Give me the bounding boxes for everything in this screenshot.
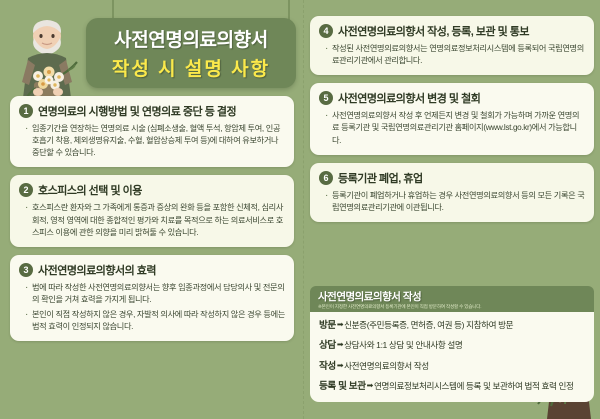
section-2-header: 2 호스피스의 선택 및 이용 (19, 182, 285, 198)
section-4-title: 사전연명의료의향서 작성, 등록, 보관 및 통보 (338, 23, 529, 39)
sign-cord-left (112, 0, 114, 20)
list-item: 본인이 직접 작성하지 않은 경우, 자발적 의사에 따라 작성하지 않은 경우… (25, 309, 285, 333)
process-step-write: 작성 ➡ 사전연명의료의향서 작성 (319, 360, 585, 373)
section-3-header: 3 사전연명의료의향서의 효력 (19, 262, 285, 278)
list-item: 법에 따라 작성한 사전연명의료의향서는 향후 임종과정에서 담당의사 및 전문… (25, 282, 285, 306)
section-5-title: 사전연명의료의향서 변경 및 철회 (338, 90, 480, 106)
arrow-right-icon: ➡ (336, 339, 344, 350)
arrow-right-icon: ➡ (366, 380, 374, 391)
process-step-write-text: 사전연명의료의향서 작성 (344, 360, 585, 372)
process-step-register-text: 연명의료정보처리시스템에 등록 및 보관하여 법적 효력 인정 (374, 380, 585, 392)
section-2-title: 호스피스의 선택 및 이용 (38, 182, 142, 198)
section-1-header: 1 연명의료의 시행방법 및 연명의료 중단 등 결정 (19, 103, 285, 119)
process-panel-note: ※본인이 지정한 사전연명의료의향서 등록기관에 본인이 직접 방문하여 작성할… (318, 304, 586, 310)
arrow-right-icon: ➡ (336, 360, 344, 371)
section-6-header: 6 등록기관 폐업, 휴업 (319, 170, 585, 186)
process-panel-body: 방문 ➡ 신분증(주민등록증, 면허증, 여권 등) 지참하여 방문 상담 ➡ … (310, 312, 594, 402)
process-panel-header: 사전연명의료의향서 작성 ※본인이 지정한 사전연명의료의향서 등록기관에 본인… (310, 286, 594, 312)
process-step-visit-label: 방문 (319, 319, 336, 332)
column-divider (303, 0, 304, 419)
section-card-3: 3 사전연명의료의향서의 효력 법에 따라 작성한 사전연명의료의향서는 향후 … (10, 255, 294, 342)
elderly-man-with-flowers-illustration (8, 16, 86, 108)
section-card-1: 1 연명의료의 시행방법 및 연명의료 중단 등 결정 임종기간을 연장하는 연… (10, 96, 294, 167)
arrow-right-icon: ➡ (336, 319, 344, 330)
section-6-number-badge: 6 (319, 171, 333, 185)
section-4-header: 4 사전연명의료의향서 작성, 등록, 보관 및 통보 (319, 23, 585, 39)
section-card-4: 4 사전연명의료의향서 작성, 등록, 보관 및 통보 작성된 사전연명의료의향… (310, 16, 594, 75)
section-6-title: 등록기관 폐업, 휴업 (338, 170, 423, 186)
section-1-number-badge: 1 (19, 104, 33, 118)
sign-cord-right (288, 0, 290, 20)
process-step-write-label: 작성 (319, 360, 336, 373)
list-item: 호스피스란 환자와 그 가족에게 통증과 증상의 완화 등을 포함한 신체적, … (25, 202, 285, 238)
section-2-number-badge: 2 (19, 183, 33, 197)
section-3-title: 사전연명의료의향서의 효력 (38, 262, 156, 278)
page-title-line1: 사전연명의료의향서 (114, 25, 268, 52)
process-step-consult-label: 상담 (319, 339, 336, 352)
section-3-number-badge: 3 (19, 263, 33, 277)
process-step-consult-text: 상담사와 1:1 상담 및 안내사항 설명 (344, 339, 585, 351)
section-1-bullet-list: 임종기간을 연장하는 연명의료 시술 (심폐소생술, 혈액 투석, 항암제 투여… (19, 123, 285, 159)
page-title-line2: 작성 시 설명 사항 (112, 54, 270, 81)
process-step-visit-text: 신분증(주민등록증, 면허증, 여권 등) 지참하여 방문 (344, 319, 585, 331)
section-5-number-badge: 5 (319, 91, 333, 105)
process-panel: 사전연명의료의향서 작성 ※본인이 지정한 사전연명의료의향서 등록기관에 본인… (310, 286, 594, 402)
section-3-bullet-list: 법에 따라 작성한 사전연명의료의향서는 향후 임종과정에서 담당의사 및 전문… (19, 282, 285, 334)
section-2-bullet-list: 호스피스란 환자와 그 가족에게 통증과 증상의 완화 등을 포함한 신체적, … (19, 202, 285, 238)
section-card-5: 5 사전연명의료의향서 변경 및 철회 사전연명의료의향서 작성 후 언제든지 … (310, 83, 594, 154)
process-step-visit: 방문 ➡ 신분증(주민등록증, 면허증, 여권 등) 지참하여 방문 (319, 319, 585, 332)
list-item: 임종기간을 연장하는 연명의료 시술 (심폐소생술, 혈액 투석, 항암제 투여… (25, 123, 285, 159)
section-1-title: 연명의료의 시행방법 및 연명의료 중단 등 결정 (38, 103, 236, 119)
right-column: 4 사전연명의료의향서 작성, 등록, 보관 및 통보 작성된 사전연명의료의향… (310, 16, 594, 230)
section-5-header: 5 사전연명의료의향서 변경 및 철회 (319, 90, 585, 106)
list-item: 사전연명의료의향서 작성 후 언제든지 변경 및 철회가 가능하며 가까운 연명… (325, 110, 585, 146)
list-item: 등록기관이 폐업하거나 휴업하는 경우 사전연명의료의향서 등의 모든 기록은 … (325, 190, 585, 214)
process-panel-title: 사전연명의료의향서 작성 (318, 289, 586, 304)
section-4-number-badge: 4 (319, 24, 333, 38)
section-6-bullet-list: 등록기관이 폐업하거나 휴업하는 경우 사전연명의료의향서 등의 모든 기록은 … (319, 190, 585, 214)
list-item: 작성된 사전연명의료의향서는 연명의료정보처리시스템에 등록되어 국립연명의료관… (325, 43, 585, 67)
section-4-bullet-list: 작성된 사전연명의료의향서는 연명의료정보처리시스템에 등록되어 국립연명의료관… (319, 43, 585, 67)
process-step-register-label: 등록 및 보관 (319, 380, 366, 393)
left-column: 1 연명의료의 시행방법 및 연명의료 중단 등 결정 임종기간을 연장하는 연… (10, 96, 294, 349)
section-5-bullet-list: 사전연명의료의향서 작성 후 언제든지 변경 및 철회가 가능하며 가까운 연명… (319, 110, 585, 146)
process-step-consult: 상담 ➡ 상담사와 1:1 상담 및 안내사항 설명 (319, 339, 585, 352)
poster-title-sign: 사전연명의료의향서 작성 시 설명 사항 (86, 18, 296, 88)
process-step-register: 등록 및 보관 ➡ 연명의료정보처리시스템에 등록 및 보관하여 법적 효력 인… (319, 380, 585, 393)
section-card-2: 2 호스피스의 선택 및 이용 호스피스란 환자와 그 가족에게 통증과 증상의… (10, 175, 294, 246)
poster-root: 사전연명의료의향서 작성 시 설명 사항 (0, 0, 600, 419)
section-card-6: 6 등록기관 폐업, 휴업 등록기관이 폐업하거나 휴업하는 경우 사전연명의료… (310, 163, 594, 222)
